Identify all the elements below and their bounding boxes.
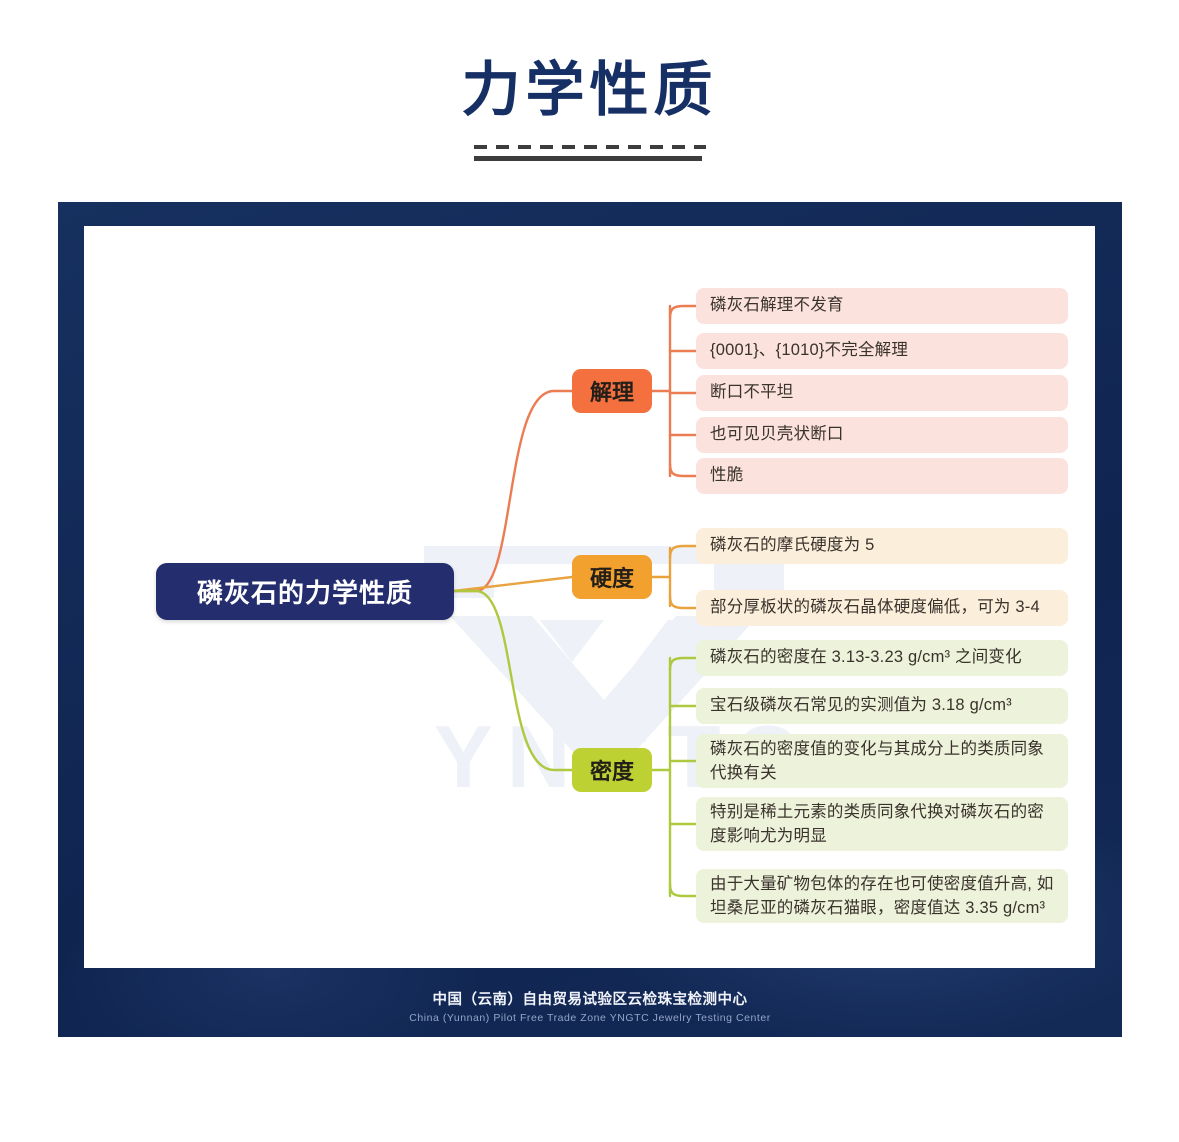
leaf-item[interactable]: 磷灰石的密度值的变化与其成分上的类质同象代换有关 [696,734,1068,788]
branch-node-cleavage[interactable]: 解理 [572,369,652,413]
leaf-text: 由于大量矿物包体的存在也可使密度值升高, 如坦桑尼亚的磷灰石猫眼，密度值达 3.… [710,873,1054,921]
leaf-item[interactable]: 特别是稀土元素的类质同象代换对磷灰石的密度影响尤为明显 [696,797,1068,851]
leaf-item[interactable]: 由于大量矿物包体的存在也可使密度值升高, 如坦桑尼亚的磷灰石猫眼，密度值达 3.… [696,869,1068,923]
leaf-text: 宝石级磷灰石常见的实测值为 3.18 g/cm³ [710,694,1012,718]
branch-node-hardness[interactable]: 硬度 [572,555,652,599]
footer-english: China (Yunnan) Pilot Free Trade Zone YNG… [58,1012,1122,1024]
leaf-item[interactable]: 磷灰石的密度在 3.13-3.23 g/cm³ 之间变化 [696,640,1068,676]
leaf-item[interactable]: {0001}、{1010}不完全解理 [696,333,1068,369]
root-node[interactable]: 磷灰石的力学性质 [156,563,454,620]
leaf-text: 磷灰石解理不发育 [710,294,844,318]
title-dashed-rule [474,145,706,149]
branch-label-cleavage: 解理 [590,375,634,407]
leaf-text: 断口不平坦 [710,381,794,405]
leaf-item[interactable]: 宝石级磷灰石常见的实测值为 3.18 g/cm³ [696,688,1068,724]
leaf-item[interactable]: 断口不平坦 [696,375,1068,411]
leaf-text: 磷灰石的摩氏硬度为 5 [710,534,874,558]
branch-label-density: 密度 [590,754,634,786]
leaf-text: 性脆 [710,464,743,488]
root-node-label: 磷灰石的力学性质 [197,573,413,610]
leaf-item[interactable]: 磷灰石的摩氏硬度为 5 [696,528,1068,564]
leaf-text: 特别是稀土元素的类质同象代换对磷灰石的密度影响尤为明显 [710,801,1054,849]
leaf-item[interactable]: 部分厚板状的磷灰石晶体硬度偏低，可为 3-4 [696,590,1068,626]
leaf-item[interactable]: 性脆 [696,458,1068,494]
leaf-item[interactable]: 也可见贝壳状断口 [696,417,1068,453]
navy-frame: YNGTC [58,202,1122,1037]
branch-label-hardness: 硬度 [590,561,634,593]
footer: 中国（云南）自由贸易试验区云检珠宝检测中心 China (Yunnan) Pil… [58,988,1122,1024]
leaf-text: 磷灰石的密度在 3.13-3.23 g/cm³ 之间变化 [710,646,1022,670]
leaf-text: {0001}、{1010}不完全解理 [710,339,908,363]
leaf-text: 也可见贝壳状断口 [710,423,844,447]
leaf-text: 部分厚板状的磷灰石晶体硬度偏低，可为 3-4 [710,596,1040,620]
mindmap-card: YNGTC [84,226,1095,968]
title-underline-group [474,145,706,161]
title-block: 力学性质 [0,58,1179,161]
leaf-item[interactable]: 磷灰石解理不发育 [696,288,1068,324]
page-title: 力学性质 [0,58,1179,123]
footer-chinese: 中国（云南）自由贸易试验区云检珠宝检测中心 [58,988,1122,1009]
leaf-text: 磷灰石的密度值的变化与其成分上的类质同象代换有关 [710,738,1054,786]
branch-node-density[interactable]: 密度 [572,748,652,792]
title-solid-rule [474,156,702,161]
